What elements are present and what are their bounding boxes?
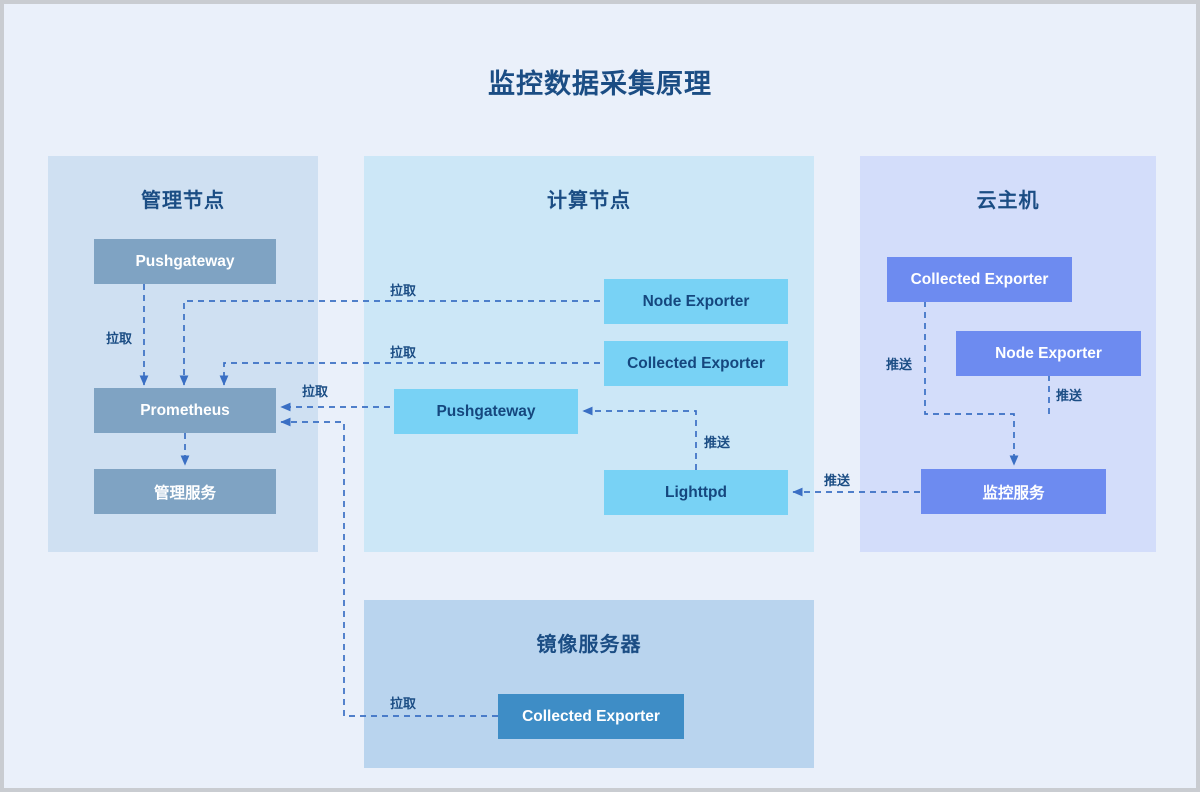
page-title: 监控数据采集原理 <box>4 62 1196 101</box>
panel-title-management: 管理节点 <box>48 184 318 213</box>
node-label: Prometheus <box>140 402 230 420</box>
node-mirror-collected-exporter[interactable]: Collected Exporter <box>498 694 684 739</box>
node-mgmt-pushgateway[interactable]: Pushgateway <box>94 239 276 284</box>
node-cloud-collected-exporter[interactable]: Collected Exporter <box>887 257 1072 302</box>
edge-label-pull-mirror-collected-exporter: 拉取 <box>390 693 416 712</box>
node-label: 监控服务 <box>982 481 1044 503</box>
node-cloud-monitor-service[interactable]: 监控服务 <box>921 469 1106 514</box>
node-label: Lighttpd <box>665 484 727 502</box>
node-label: Node Exporter <box>995 345 1102 363</box>
panel-title-mirror: 镜像服务器 <box>364 628 814 657</box>
panel-title-compute: 计算节点 <box>364 184 814 213</box>
node-label: Collected Exporter <box>911 271 1049 289</box>
node-label: Pushgateway <box>436 403 535 421</box>
node-compute-collected-exporter[interactable]: Collected Exporter <box>604 341 788 386</box>
edge-label-push-cloud-collected-exporter: 推送 <box>886 354 912 373</box>
edge-label-pull-compute-pushgateway: 拉取 <box>302 381 328 400</box>
node-mgmt-prometheus[interactable]: Prometheus <box>94 388 276 433</box>
node-mgmt-service[interactable]: 管理服务 <box>94 469 276 514</box>
panel-title-cloud: 云主机 <box>860 184 1156 213</box>
node-compute-pushgateway[interactable]: Pushgateway <box>394 389 578 434</box>
node-compute-lighttpd[interactable]: Lighttpd <box>604 470 788 515</box>
node-label: Collected Exporter <box>522 708 660 726</box>
edge-label-pull-mgmt-pushgateway: 拉取 <box>106 328 132 347</box>
panel-mirror-server: 镜像服务器 <box>364 600 814 768</box>
edge-label-push-lighttpd-pushgateway: 推送 <box>704 432 730 451</box>
edge-label-pull-compute-collected-exporter: 拉取 <box>390 342 416 361</box>
edge-label-pull-compute-node-exporter: 拉取 <box>390 280 416 299</box>
node-label: Pushgateway <box>135 253 234 271</box>
node-compute-node-exporter[interactable]: Node Exporter <box>604 279 788 324</box>
node-label: 管理服务 <box>154 481 216 503</box>
node-cloud-node-exporter[interactable]: Node Exporter <box>956 331 1141 376</box>
node-label: Node Exporter <box>643 293 750 311</box>
diagram-canvas: 监控数据采集原理 管理节点 计算节点 云主机 镜像服务器 <box>4 4 1196 788</box>
edge-label-push-cloud-node-exporter: 推送 <box>1056 385 1082 404</box>
edge-label-push-monitor-service-lighttpd: 推送 <box>824 470 850 489</box>
node-label: Collected Exporter <box>627 355 765 373</box>
